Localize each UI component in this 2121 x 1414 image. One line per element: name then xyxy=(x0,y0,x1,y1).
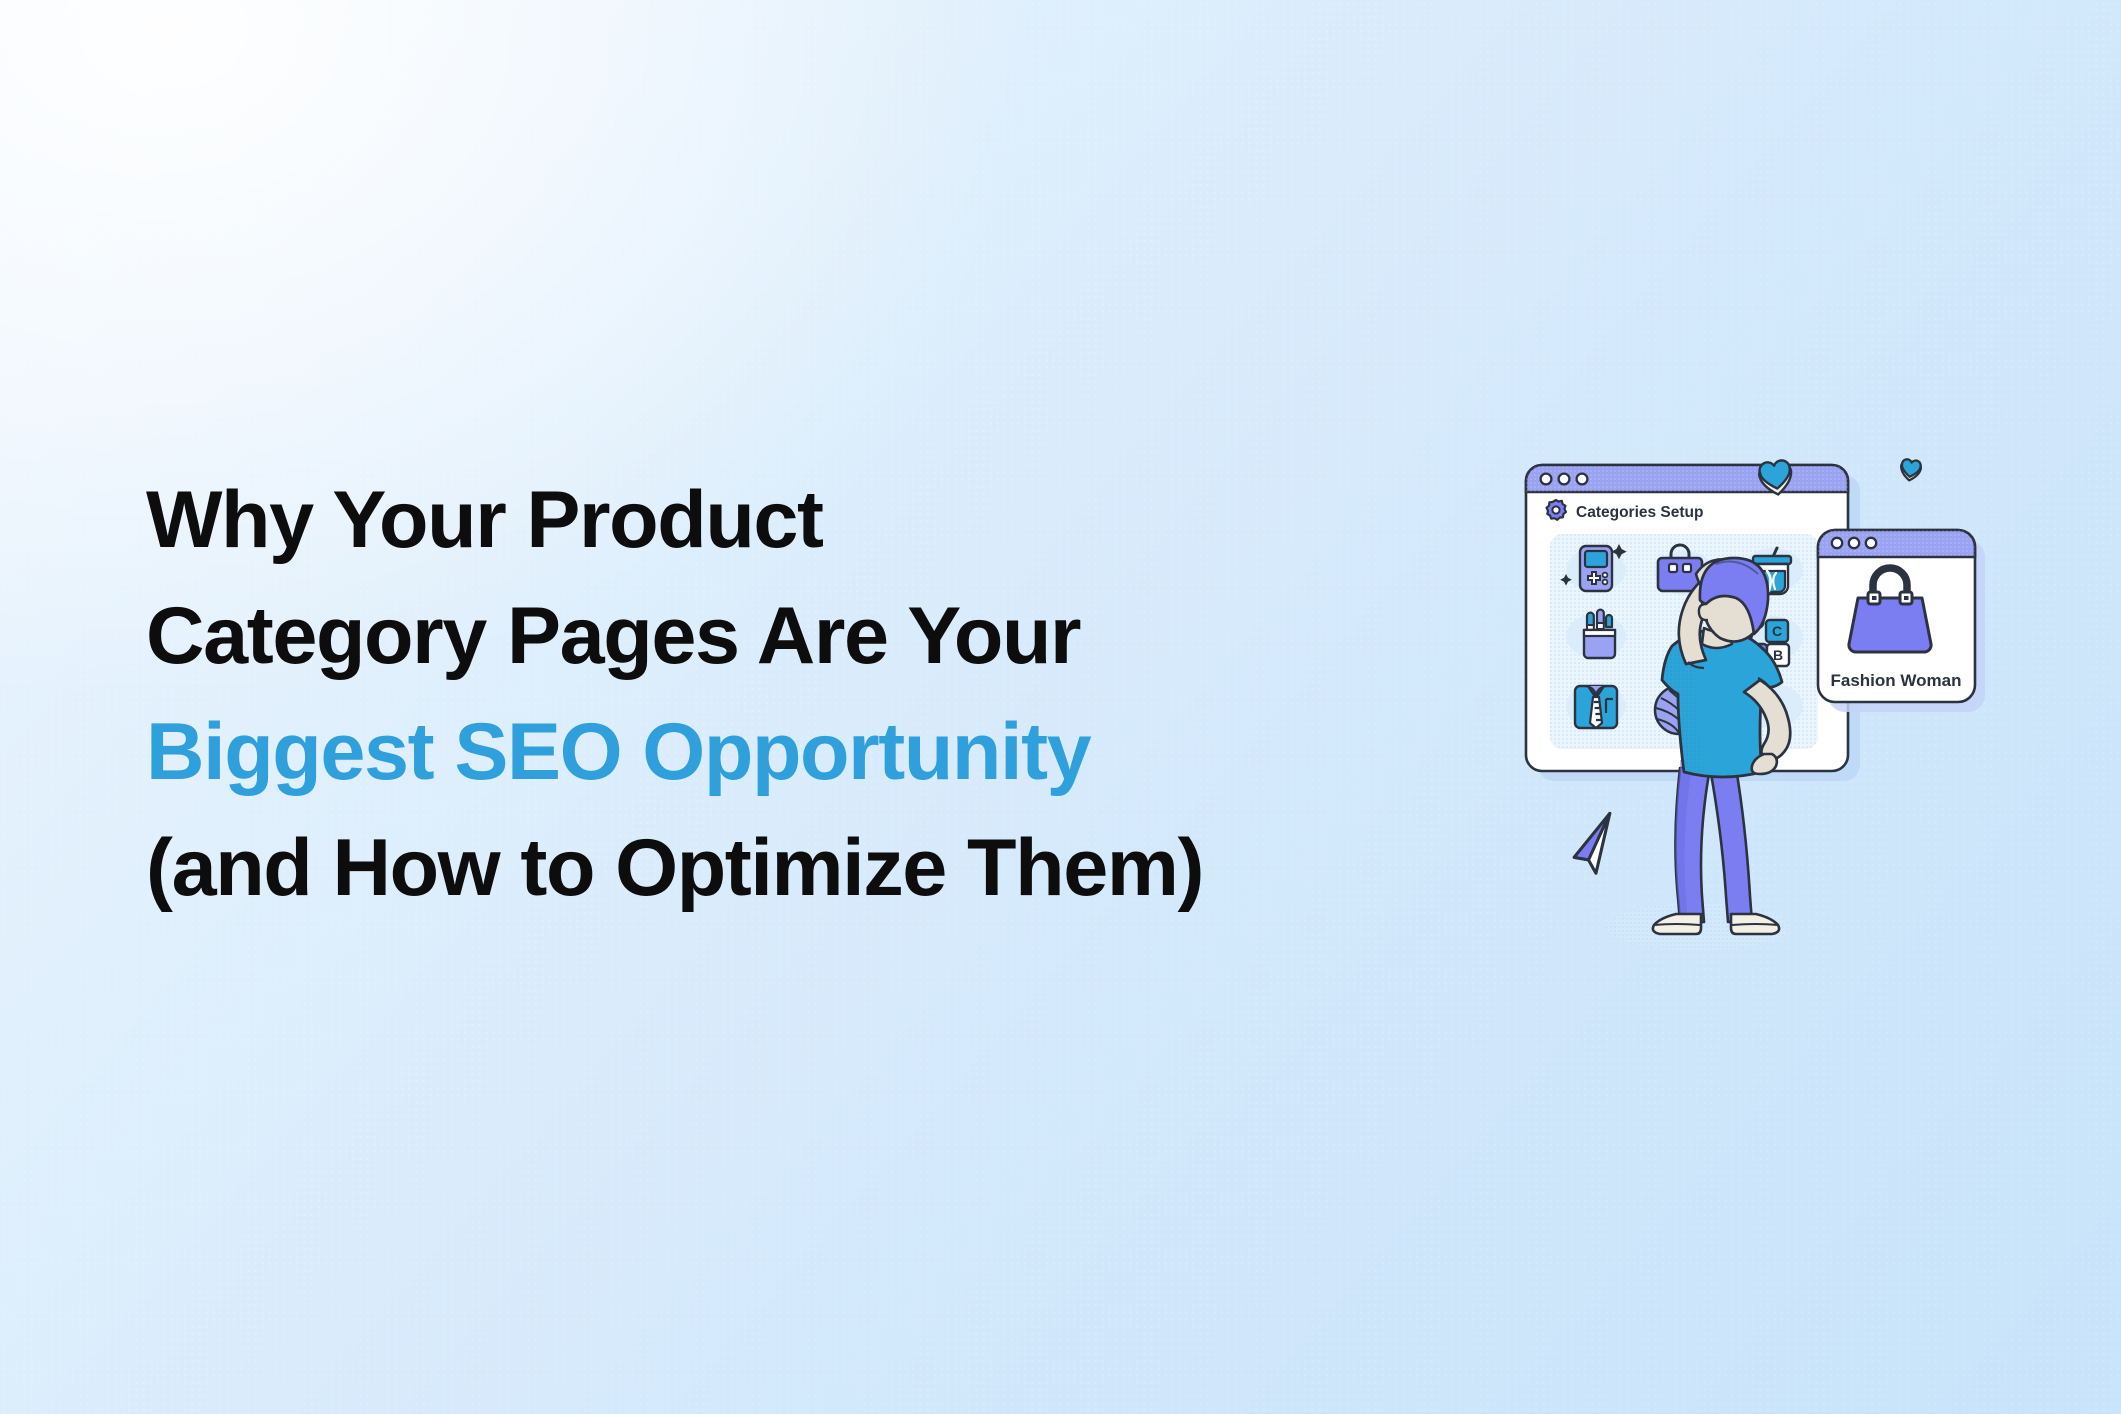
product-card-window: Fashion Woman xyxy=(1818,530,1985,712)
categories-setup-illustration: Categories Setup xyxy=(1490,418,2036,964)
slide-canvas: Why Your Product Category Pages Are Your… xyxy=(0,0,2121,1414)
heart-icon xyxy=(1899,459,1922,482)
paper-plane-icon xyxy=(1570,813,1616,875)
headline-line-3-accent: Biggest SEO Opportunity xyxy=(146,694,1476,810)
gear-icon xyxy=(1547,500,1567,520)
folded-shirt-tie-icon xyxy=(1575,686,1617,728)
svg-text:C: C xyxy=(1772,623,1782,639)
section-label: Categories Setup xyxy=(1576,504,1703,521)
window-dot xyxy=(1577,474,1588,485)
headline-line-1: Why Your Product xyxy=(146,462,1476,578)
handheld-game-console-icon xyxy=(1580,546,1612,591)
window-dot xyxy=(1541,474,1552,485)
window-dot xyxy=(1832,538,1842,548)
headline-line-4: (and How to Optimize Them) xyxy=(146,810,1476,926)
page-title: Why Your Product Category Pages Are Your… xyxy=(146,462,1476,926)
window-dot xyxy=(1849,538,1859,548)
paint-brushes-cup-icon xyxy=(1584,610,1615,658)
window-dot xyxy=(1559,474,1570,485)
card-caption: Fashion Woman xyxy=(1831,671,1962,690)
window-dot xyxy=(1866,538,1876,548)
headline-line-2: Category Pages Are Your xyxy=(146,578,1476,694)
